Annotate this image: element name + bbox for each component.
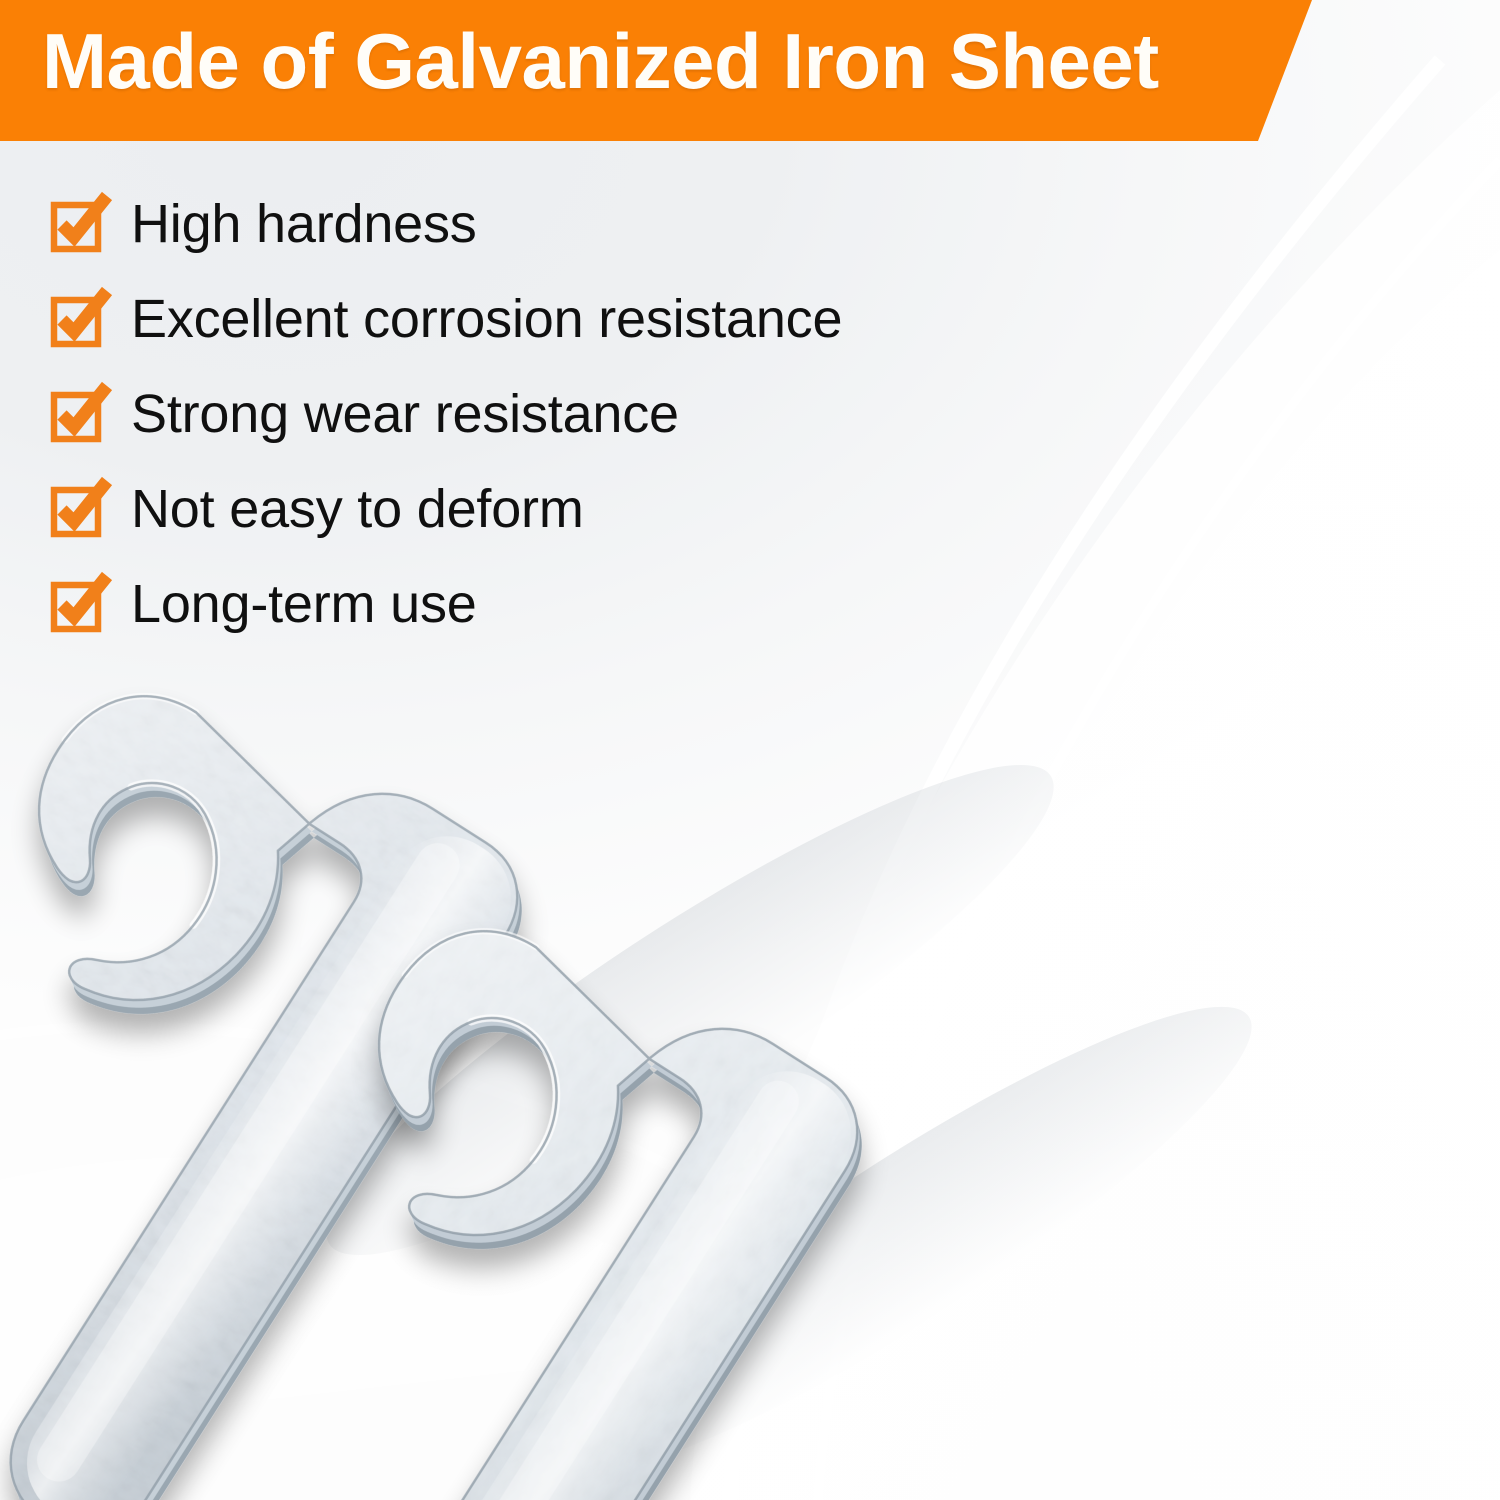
list-item-label: Excellent corrosion resistance	[131, 292, 842, 346]
list-item: Strong wear resistance	[54, 366, 842, 461]
checked-checkbox-icon	[54, 390, 102, 438]
feature-list: High hardness Excellent corrosion resist…	[54, 176, 842, 651]
product-feature-image: Made of Galvanized Iron Sheet	[0, 0, 1500, 1500]
checked-checkbox-icon	[54, 200, 102, 248]
list-item-label: Strong wear resistance	[131, 387, 679, 441]
page-title: Made of Galvanized Iron Sheet	[42, 22, 1159, 100]
list-item: Not easy to deform	[54, 461, 842, 556]
list-item: High hardness	[54, 176, 842, 271]
checked-checkbox-icon	[54, 295, 102, 343]
checked-checkbox-icon	[54, 485, 102, 533]
list-item-label: Not easy to deform	[131, 482, 584, 536]
list-item-label: Long-term use	[131, 577, 477, 631]
list-item-label: High hardness	[131, 197, 477, 251]
header-banner: Made of Galvanized Iron Sheet	[0, 0, 1330, 141]
checked-checkbox-icon	[54, 580, 102, 628]
list-item: Excellent corrosion resistance	[54, 271, 842, 366]
wrench-back	[0, 622, 551, 1500]
list-item: Long-term use	[54, 556, 842, 651]
